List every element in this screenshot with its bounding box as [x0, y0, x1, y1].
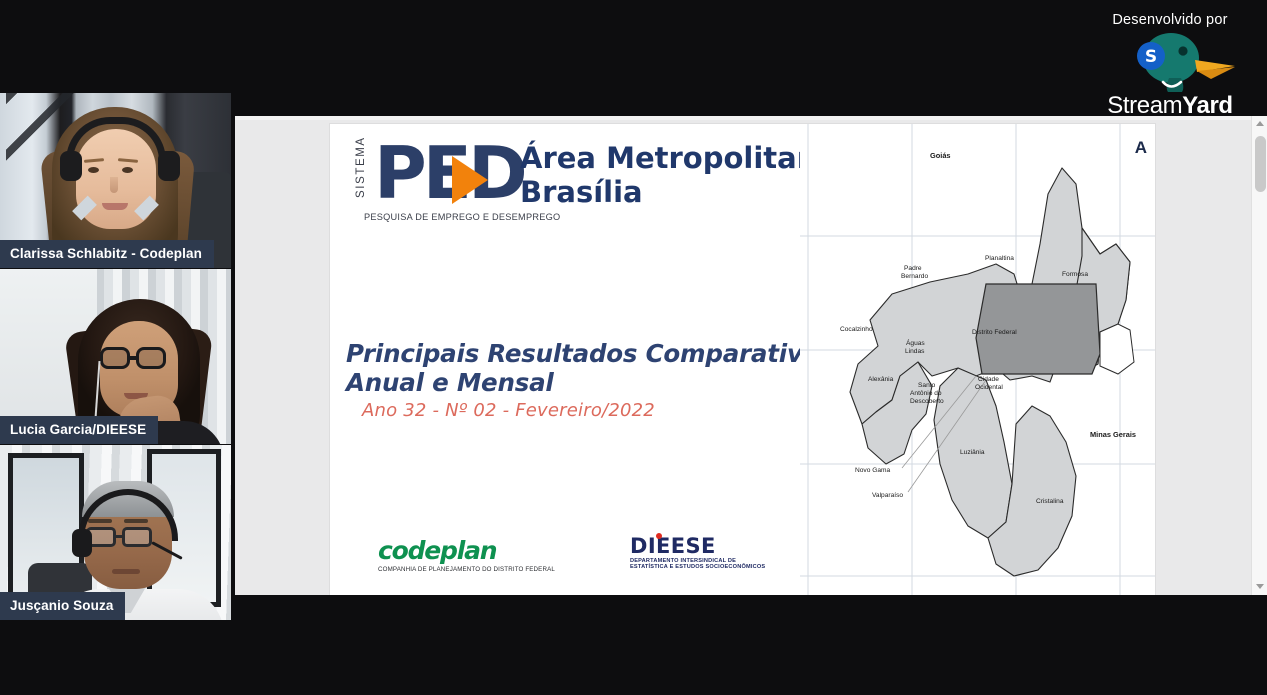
vertical-scrollbar[interactable]: [1251, 116, 1267, 595]
scroll-up-arrow: [1256, 121, 1264, 126]
mouth: [112, 569, 140, 574]
shared-screen-area[interactable]: SISTEMA PED PESQUISA DE EMPREGO E DESEMP…: [235, 116, 1267, 595]
codeplan-logo: codeplan COMPANHIA DE PLANEJAMENTO DO DI…: [378, 536, 558, 573]
duck-head-icon: S: [1085, 32, 1255, 94]
dieese-wordmark: DIEESE: [630, 534, 716, 558]
scrollbar-thumb[interactable]: [1255, 136, 1266, 192]
wordmark-yard: Yard: [1182, 92, 1232, 119]
headset-cup-right: [158, 151, 180, 181]
ped-arrow-icon: [452, 156, 488, 204]
eye-left: [88, 167, 99, 173]
map-label: Águas: [906, 340, 925, 348]
eyeglass-right: [136, 347, 166, 369]
nose: [110, 177, 118, 193]
streamyard-branding: Desenvolvido por S StreamYard: [1085, 12, 1255, 120]
participant-name-label: Lucia Garcia/DIEESE: [0, 416, 158, 444]
scroll-down-icon[interactable]: [1252, 579, 1267, 595]
map-label: Goiás: [930, 152, 951, 161]
ped-logo: SISTEMA PED PESQUISA DE EMPREGO E DESEMP…: [348, 138, 538, 220]
mouth: [102, 203, 128, 210]
wordmark-stream: Stream: [1107, 92, 1182, 119]
map-label: Antônio do: [910, 390, 942, 398]
scroll-down-arrow: [1256, 584, 1264, 589]
dieese-logo: DIEESE DEPARTAMENTO INTERSINDICAL DE EST…: [630, 534, 820, 570]
map-label: Cidade: [978, 376, 999, 384]
participant-tiles: Clarissa Schlabitz - Codeplan Lucia Garc…: [0, 93, 231, 621]
eye-right: [122, 167, 133, 173]
map-label: Bernardo: [901, 273, 928, 281]
map-corner-glyph: A: [1135, 138, 1147, 158]
map-label: Novo Gama: [855, 467, 890, 475]
map-label: Cristalina: [1036, 498, 1063, 506]
codeplan-subtitle: COMPANHIA DE PLANEJAMENTO DO DISTRITO FE…: [378, 566, 558, 573]
map-label: Luziânia: [960, 449, 985, 457]
scroll-up-icon[interactable]: [1252, 116, 1267, 132]
branding-tagline: Desenvolvido por: [1085, 12, 1255, 28]
eyeglass-bridge: [130, 356, 138, 360]
eyeglass-left: [100, 347, 130, 369]
presentation-slide: SISTEMA PED PESQUISA DE EMPREGO E DESEMP…: [330, 124, 1155, 595]
participant-name-label: Clarissa Schlabitz - Codeplan: [0, 240, 214, 268]
map-label: Descoberto: [910, 398, 944, 406]
ped-logo-sistema: SISTEMA: [355, 134, 367, 198]
map-label: Lindas: [905, 348, 924, 356]
video-tile-lucia[interactable]: Lucia Garcia/DIEESE: [0, 269, 231, 444]
dieese-subtitle-line2: ESTATÍSTICA E ESTUDOS SOCIOECONÔMICOS: [630, 564, 820, 570]
participant-name-label: Jusçanio Souza: [0, 592, 125, 620]
ped-logo-letters: PED: [374, 134, 524, 212]
map-label: Planaltina: [985, 255, 1014, 263]
dieese-dot-icon: [656, 533, 662, 539]
slide-main-title: Principais Resultados Comparativo Anual …: [346, 339, 866, 398]
dieese-word-text: DIEESE: [630, 534, 716, 558]
map-label: Santo: [918, 382, 935, 390]
headset-cup-left: [60, 151, 82, 181]
map-label: Ocidental: [975, 384, 1003, 392]
slide-edition: Ano 32 - Nº 02 - Fevereiro/2022: [362, 400, 655, 421]
svg-text:S: S: [1145, 47, 1157, 67]
map-figure: A GoiásPlanaltinaFormosaPadreBernardoCoc…: [800, 124, 1155, 595]
map-label: Distrito Federal: [972, 329, 1017, 337]
map-label: Padre: [904, 265, 922, 273]
map-label: Minas Gerais: [1090, 431, 1136, 440]
ped-logo-subtitle: PESQUISA DE EMPREGO E DESEMPREGO: [364, 212, 560, 222]
codeplan-wordmark: codeplan: [378, 536, 558, 565]
map-label: Valparaíso: [872, 492, 903, 500]
map-label: Alexânia: [868, 376, 893, 384]
map-label: Cocalzinho: [840, 326, 873, 334]
headset-cup-left: [72, 529, 92, 557]
video-tile-juscanio[interactable]: Jusçanio Souza: [0, 445, 231, 620]
streamyard-stage: Desenvolvido por S StreamYard: [0, 0, 1267, 695]
map-label: Formosa: [1062, 271, 1088, 279]
share-top-strip: [235, 116, 1267, 120]
video-tile-clarissa[interactable]: Clarissa Schlabitz - Codeplan: [0, 93, 231, 268]
